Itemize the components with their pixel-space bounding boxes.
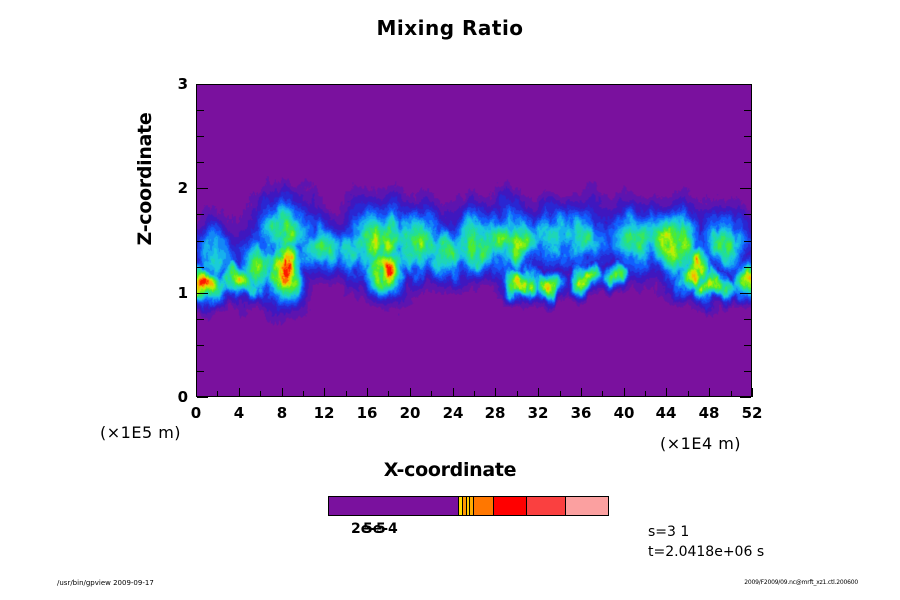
y-axis-minor-tick	[744, 136, 751, 137]
y-axis-minor-tick	[197, 345, 204, 346]
y-axis-tick	[197, 84, 208, 85]
y-axis-minor-tick	[197, 371, 204, 372]
y-axis-label: Z-coordinate	[134, 99, 156, 259]
y-axis-minor-tick	[744, 241, 751, 242]
x-axis-unit: (×1E4 m)	[660, 434, 741, 453]
x-axis-tick-label: 12	[304, 404, 344, 422]
x-axis-tick	[282, 388, 283, 397]
x-axis-tick	[538, 388, 539, 397]
x-axis-minor-tick	[431, 391, 432, 397]
x-axis-tick	[752, 388, 753, 397]
colorbar-segment	[329, 497, 459, 515]
x-axis-minor-tick	[560, 391, 561, 397]
x-axis-tick	[0, 63, 900, 72]
y-axis-tick	[740, 397, 751, 398]
x-axis-tick-label: 28	[475, 404, 515, 422]
y-axis-tick	[740, 84, 751, 85]
x-axis-tick	[239, 388, 240, 397]
y-axis-minor-tick	[197, 162, 204, 163]
x-axis-tick-label: 36	[561, 404, 601, 422]
x-axis-tick	[0, 54, 900, 63]
colorbar	[328, 496, 609, 516]
x-axis-tick-label: 20	[390, 404, 430, 422]
x-axis-tick	[495, 388, 496, 397]
y-axis-minor-tick	[744, 162, 751, 163]
x-axis-tick	[709, 388, 710, 397]
x-axis-minor-tick	[388, 391, 389, 397]
x-axis-minor-tick	[602, 391, 603, 397]
colorbar-segment	[566, 497, 608, 515]
y-axis-tick	[740, 293, 751, 294]
x-axis-tick	[0, 45, 900, 54]
x-axis-minor-tick	[474, 391, 475, 397]
x-axis-tick-label: 40	[604, 404, 644, 422]
y-axis-minor-tick	[197, 241, 204, 242]
x-axis-minor-tick	[688, 391, 689, 397]
y-axis-minor-tick	[744, 214, 751, 215]
y-axis-minor-tick	[197, 110, 204, 111]
x-axis-minor-tick	[217, 391, 218, 397]
footer-source: 2009/F2009/09.nc@mrft_xz1.ctl.200600	[744, 579, 858, 586]
x-axis-tick	[324, 388, 325, 397]
x-axis-tick-label: 4	[219, 404, 259, 422]
x-axis-tick	[453, 388, 454, 397]
x-axis-minor-tick	[517, 391, 518, 397]
x-axis-tick	[666, 388, 667, 397]
x-axis-tick	[581, 388, 582, 397]
y-axis-minor-tick	[744, 371, 751, 372]
y-axis-minor-tick	[197, 267, 204, 268]
annotation-time: t=2.0418e+06 s	[648, 542, 764, 562]
annotation-step: s=3 1	[648, 522, 764, 542]
y-axis-tick	[197, 188, 208, 189]
x-axis-tick-label: 52	[732, 404, 772, 422]
y-axis-minor-tick	[744, 110, 751, 111]
x-axis-minor-tick	[303, 391, 304, 397]
x-axis-minor-tick	[645, 391, 646, 397]
x-axis-tick-label: 8	[262, 404, 302, 422]
x-axis-tick-label: 0	[176, 404, 216, 422]
y-axis-tick-label: 1	[148, 284, 188, 302]
y-axis-minor-tick	[744, 267, 751, 268]
x-axis-tick	[196, 388, 197, 397]
colorbar-segment	[494, 497, 527, 515]
x-axis-tick-label: 48	[689, 404, 729, 422]
y-axis-minor-tick	[744, 319, 751, 320]
y-axis-tick-label: 3	[148, 75, 188, 93]
plot-annotations: s=3 1 t=2.0418e+06 s	[648, 522, 764, 562]
colorbar-segment	[527, 497, 566, 515]
colorbar-tick-label: 5e-4	[363, 521, 398, 537]
x-axis-tick	[624, 388, 625, 397]
mixing-ratio-heatmap	[197, 85, 751, 396]
x-axis-minor-tick	[346, 391, 347, 397]
x-axis-tick-label: 24	[433, 404, 473, 422]
y-axis-minor-tick	[197, 214, 204, 215]
plot-area	[196, 84, 752, 397]
y-axis-tick	[197, 293, 208, 294]
y-axis-tick	[197, 397, 208, 398]
x-axis-minor-tick	[260, 391, 261, 397]
y-axis-minor-tick	[744, 345, 751, 346]
x-axis-tick	[0, 0, 900, 9]
x-axis-tick	[0, 72, 900, 81]
footer-command: /usr/bin/gpview 2009-09-17	[57, 579, 154, 587]
x-axis-tick-label: 32	[518, 404, 558, 422]
x-axis-tick	[367, 388, 368, 397]
page-title: Mixing Ratio	[0, 16, 900, 40]
x-axis-tick-label: 16	[347, 404, 387, 422]
x-axis-minor-tick	[731, 391, 732, 397]
x-axis-label: X-coordinate	[0, 459, 900, 481]
colorbar-segment	[474, 497, 494, 515]
y-axis-tick	[740, 188, 751, 189]
y-axis-minor-tick	[197, 136, 204, 137]
y-axis-minor-tick	[197, 319, 204, 320]
x-axis-tick	[410, 388, 411, 397]
y-axis-unit: (×1E5 m)	[100, 423, 181, 442]
x-axis-tick-label: 44	[646, 404, 686, 422]
